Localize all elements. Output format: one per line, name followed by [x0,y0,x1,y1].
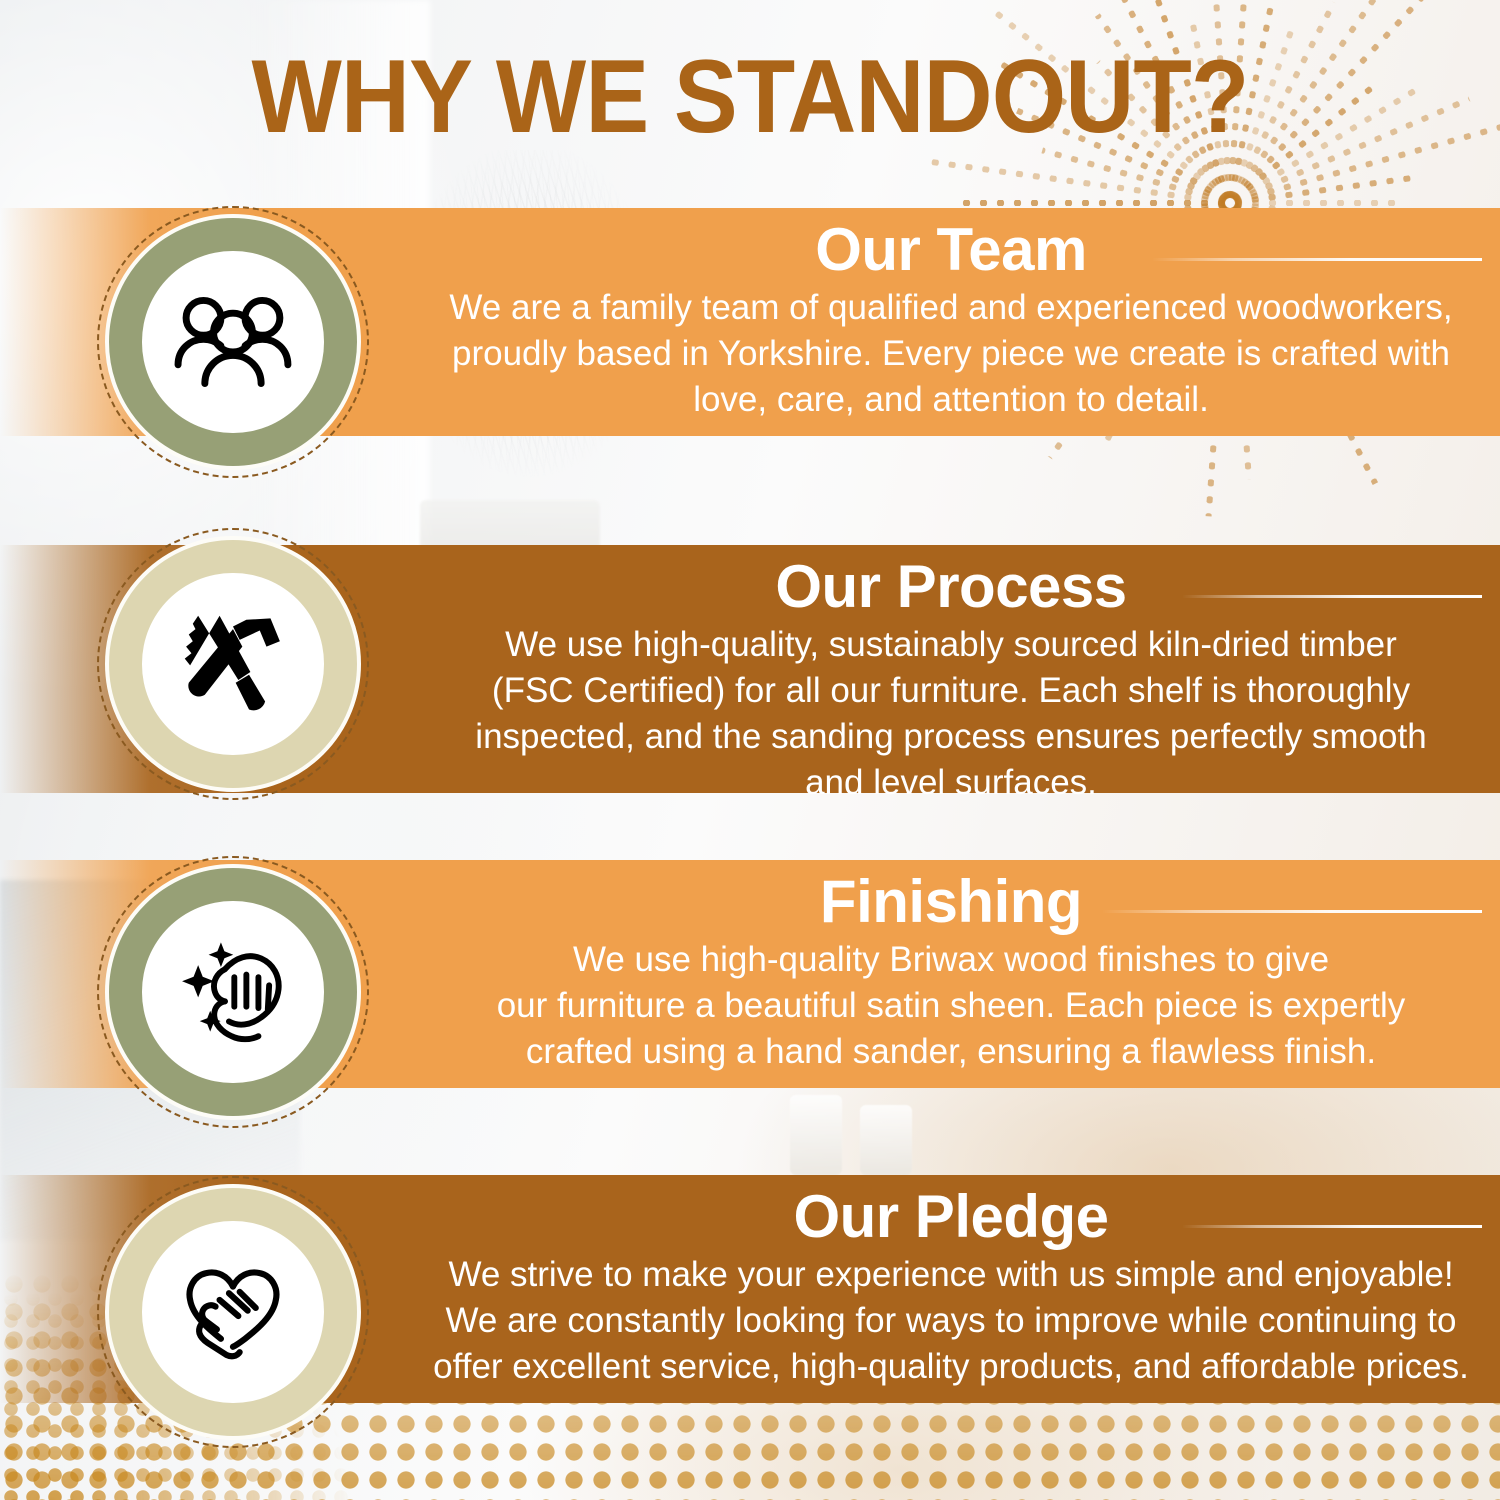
people-group-icon [166,275,300,409]
badge-disc [142,1221,323,1402]
section-heading: Finishing [820,870,1082,935]
infographic-canvas: WHY WE STANDOUT? Our Team We are a famil… [0,0,1500,1500]
body-line: proudly based in Yorkshire. Every piece … [420,331,1482,377]
saw-hammer-icon [166,597,300,731]
body-line: love, care, and attention to detail. [420,377,1482,423]
section-heading: Our Team [815,218,1087,283]
body-line: We strive to make your experience with u… [420,1252,1482,1298]
body-line: We are a family team of qualified and ex… [420,285,1482,331]
page-title: WHY WE STANDOUT? [60,38,1440,157]
body-line: offer excellent service, high-quality pr… [420,1344,1482,1390]
section-body: We use high-quality Briwax wood finishes… [420,937,1482,1076]
heading-rule [1182,1225,1482,1228]
badge-disc [142,251,323,432]
body-line: We are constantly looking for ways to im… [420,1298,1482,1344]
section-heading: Our Process [775,555,1126,620]
body-line: our furniture a beautiful satin sheen. E… [420,983,1482,1029]
badge-our-team [97,206,369,478]
badge-ring [105,536,361,792]
section-heading: Our Pledge [793,1185,1108,1250]
body-line: We use high-quality Briwax wood finishes… [420,937,1482,983]
heading-rule [1152,258,1482,261]
badge-ring [105,864,361,1120]
body-line: We use high-quality, sustainably sourced… [420,622,1482,668]
badge-our-process [97,528,369,800]
heading-rule [1102,910,1482,913]
hand-heart-icon [166,1245,300,1379]
polishing-hand-sparkle-icon [166,925,300,1059]
body-line: (FSC Certified) for all our furniture. E… [420,668,1482,714]
badge-our-pledge [97,1176,369,1448]
body-line: crafted using a hand sander, ensuring a … [420,1029,1482,1075]
heading-rule [1182,595,1482,598]
background-candle-one [790,1095,842,1175]
body-line: inspected, and the sanding process ensur… [420,714,1482,760]
badge-ring [105,1184,361,1440]
badge-ring [105,214,361,470]
badge-disc [142,573,323,754]
section-body: We use high-quality, sustainably sourced… [420,622,1482,807]
background-candle-two [860,1105,912,1175]
badge-disc [142,901,323,1082]
body-line: and level surfaces. [420,760,1482,806]
section-body: We strive to make your experience with u… [420,1252,1482,1391]
section-body: We are a family team of qualified and ex… [420,285,1482,424]
badge-finishing [97,856,369,1128]
